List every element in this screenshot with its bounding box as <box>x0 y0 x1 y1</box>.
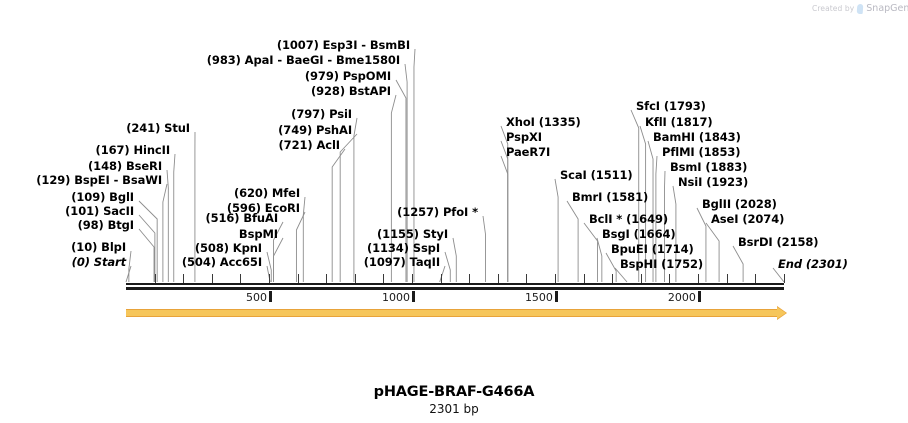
ruler-tick-label: 1000 <box>380 291 410 304</box>
ruler-line-thin <box>126 283 784 285</box>
ruler-minor-tick <box>469 274 470 283</box>
orf-arrow-body <box>126 309 778 317</box>
ruler-minor-tick <box>269 274 270 283</box>
ruler-major-tick <box>269 291 272 302</box>
ruler-minor-tick <box>155 274 156 283</box>
ruler-line-thick <box>126 287 784 290</box>
ruler-tick-label: 1500 <box>523 291 553 304</box>
sequence-title: pHAGE-BRAF-G466A 2301 bp <box>0 384 908 416</box>
ruler-minor-tick <box>240 274 241 283</box>
ruler-minor-tick <box>755 274 756 283</box>
ruler-major-tick <box>555 291 558 302</box>
ruler-minor-tick <box>584 274 585 283</box>
sequence-length: 2301 bp <box>0 402 908 416</box>
ruler-minor-tick <box>412 274 413 283</box>
ruler-minor-tick <box>383 274 384 283</box>
ruler-minor-tick <box>784 274 785 283</box>
sequence-ruler: 500100015002000 <box>0 0 908 423</box>
ruler-major-tick <box>698 291 701 302</box>
ruler-tick-label: 500 <box>237 291 267 304</box>
ruler-minor-tick <box>441 274 442 283</box>
orf-arrow-head <box>777 307 786 319</box>
ruler-minor-tick <box>498 274 499 283</box>
ruler-minor-tick <box>326 274 327 283</box>
ruler-minor-tick <box>526 274 527 283</box>
ruler-minor-tick <box>298 274 299 283</box>
ruler-minor-tick <box>698 274 699 283</box>
sequence-name: pHAGE-BRAF-G466A <box>0 384 908 400</box>
ruler-minor-tick <box>555 274 556 283</box>
ruler-minor-tick <box>355 274 356 283</box>
ruler-minor-tick <box>183 274 184 283</box>
ruler-minor-tick <box>212 274 213 283</box>
ruler-minor-tick <box>641 274 642 283</box>
restriction-map: Created by SnapGene (0) Start(10) BlpI(9… <box>0 0 908 423</box>
ruler-minor-tick <box>727 274 728 283</box>
ruler-tick-label: 2000 <box>666 291 696 304</box>
ruler-minor-tick <box>669 274 670 283</box>
ruler-minor-tick <box>612 274 613 283</box>
ruler-major-tick <box>412 291 415 302</box>
